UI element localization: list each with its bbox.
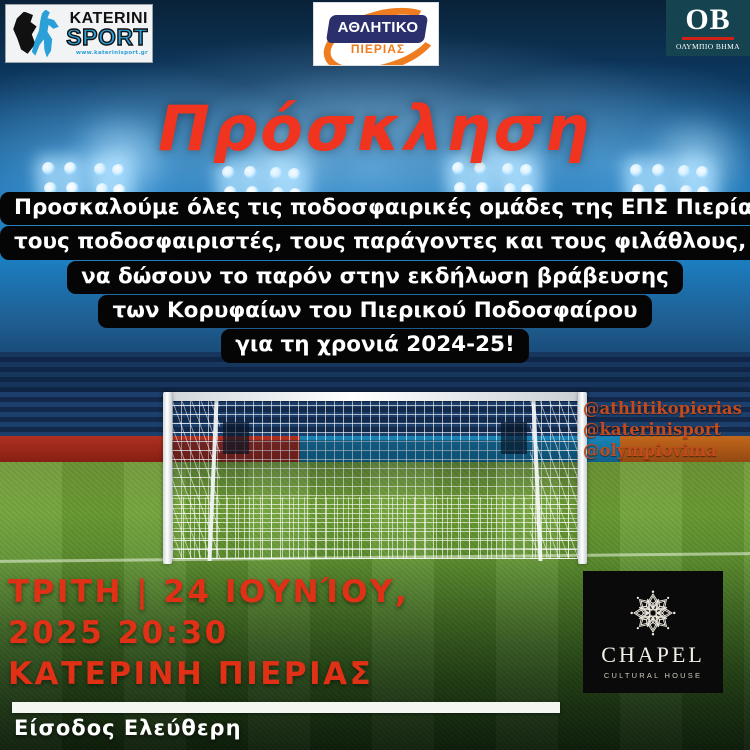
poster-title: Πρόσκληση: [0, 92, 750, 165]
goal-dark-patch-left: [223, 422, 249, 454]
invitation-poster: KATERINI SPORT www.katerinisport.gr ΑΘΛΗ…: [0, 0, 750, 750]
body-row: των Κορυφαίων του Πιερικού Ποδοσφαίρου: [0, 295, 750, 329]
chapel-wordmark: CHAPEL: [601, 644, 705, 666]
event-place-line: ΚΑΤΕΡΙΝΗ ΠΙΕΡΙΑΣ: [8, 654, 409, 695]
katerini-sport-wordmark: KATERINI SPORT www.katerinisport.gr: [64, 11, 152, 57]
goal-net-floor: [172, 497, 578, 559]
ob-monogram: OB: [685, 5, 730, 35]
ob-red-rule: [682, 37, 734, 40]
body-line-3: να δώσουν το παρόν στην εκδήλωση βράβευσ…: [67, 261, 683, 294]
chapel-subtitle: CULTURAL HOUSE: [604, 671, 702, 680]
katerini-map-runner-icon: [8, 8, 64, 60]
invitation-body: Προσκαλούμε όλες τις ποδοσφαιρικές ομάδε…: [0, 192, 750, 364]
chapel-mandala-icon: [625, 585, 681, 641]
katerini-url: www.katerinisport.gr: [64, 51, 148, 57]
ob-subtitle: ΟΛΥΜΠΙΟ ΒΗΜΑ: [676, 42, 740, 51]
social-handles: @athlitikopierias @katerinisport @olympi…: [583, 398, 742, 461]
logo-katerini-sport[interactable]: KATERINI SPORT www.katerinisport.gr: [5, 4, 153, 63]
goal-post-left: [163, 392, 172, 564]
body-line-2: τους ποδοσφαιριστές, τους παράγοντες και…: [0, 226, 750, 259]
football-goal: [163, 392, 587, 564]
handle-athlitikopierias[interactable]: @athlitikopierias: [583, 398, 742, 419]
body-line-4: των Κορυφαίων του Πιερικού Ποδοσφαίρου: [98, 295, 651, 328]
body-row: να δώσουν το παρόν στην εκδήλωση βράβευσ…: [0, 261, 750, 295]
body-line-5: για τη χρονιά 2024-25!: [221, 329, 529, 362]
handle-katerinisport[interactable]: @katerinisport: [583, 419, 742, 440]
free-entry-note: Είσοδος Ελεύθερη: [14, 716, 242, 740]
event-details: ΤΡΙΤΗ | 24 ΙΟΥΝΊΟΥ, 2025 20:30 ΚΑΤΕΡΙΝΗ …: [8, 572, 409, 695]
handle-olympiovima[interactable]: @olympiovima: [583, 440, 742, 461]
divider-bar: [12, 702, 560, 713]
athlitiko-wordmark: ΑΘΛΗΤΙΚΟ: [330, 19, 426, 36]
goal-crossbar: [163, 392, 587, 401]
body-line-1: Προσκαλούμε όλες τις ποδοσφαιρικές ομάδε…: [0, 192, 750, 225]
athlitiko-subtitle: ΠΙΕΡΙΑΣ: [330, 42, 426, 56]
body-row: για τη χρονιά 2024-25!: [0, 329, 750, 363]
katerini-line2: SPORT: [64, 26, 148, 49]
body-row: Προσκαλούμε όλες τις ποδοσφαιρικές ομάδε…: [0, 192, 750, 226]
logo-chapel-cultural-house[interactable]: CHAPEL CULTURAL HOUSE: [583, 571, 723, 693]
body-row: τους ποδοσφαιριστές, τους παράγοντες και…: [0, 226, 750, 260]
event-date-line-2: 2025 20:30: [8, 613, 409, 654]
logo-athlitiko-pierias[interactable]: ΑΘΛΗΤΙΚΟ ΠΙΕΡΙΑΣ: [313, 2, 439, 66]
logo-olympio-vima[interactable]: OB ΟΛΥΜΠΙΟ ΒΗΜΑ: [666, 0, 750, 56]
goal-dark-patch-right: [501, 422, 527, 454]
event-date-line-1: ΤΡΙΤΗ | 24 ΙΟΥΝΊΟΥ,: [8, 572, 409, 613]
